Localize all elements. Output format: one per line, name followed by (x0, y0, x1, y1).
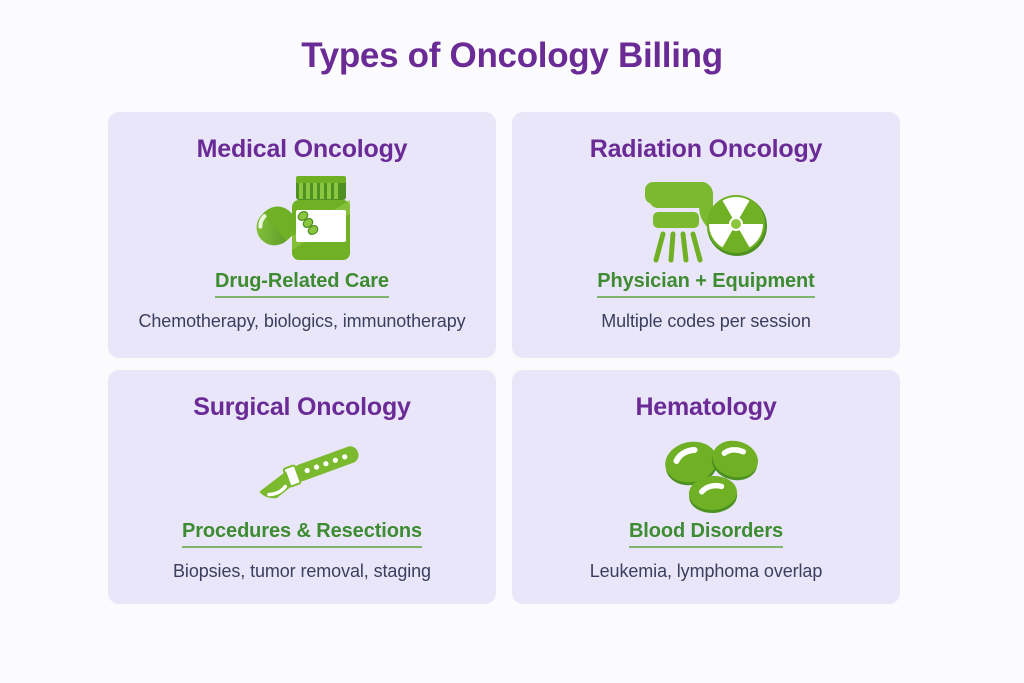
card-subtitle: Blood Disorders (629, 520, 783, 548)
card-title: Medical Oncology (197, 136, 408, 164)
radiation-machine-icon (643, 170, 769, 270)
card-medical-oncology[interactable]: Medical Oncology (108, 112, 496, 358)
card-surgical-oncology[interactable]: Surgical Oncology (108, 370, 496, 604)
page-title: Types of Oncology Billing (0, 36, 1024, 76)
card-subtitle: Drug-Related Care (215, 270, 389, 298)
card-hematology[interactable]: Hematology (512, 370, 900, 604)
pill-bottle-capsule-icon (246, 170, 358, 270)
card-description: Biopsies, tumor removal, staging (173, 561, 431, 582)
card-subtitle: Procedures & Resections (182, 520, 422, 548)
card-description: Multiple codes per session (601, 311, 811, 332)
blood-cells-icon (653, 428, 759, 520)
card-grid: Medical Oncology (108, 112, 903, 604)
card-radiation-oncology[interactable]: Radiation Oncology (512, 112, 900, 358)
card-title: Hematology (635, 394, 776, 422)
card-subtitle: Physician + Equipment (597, 270, 814, 298)
card-description: Leukemia, lymphoma overlap (590, 561, 823, 582)
infographic-page: Types of Oncology Billing Medical Oncolo… (0, 0, 1024, 683)
card-title: Radiation Oncology (590, 136, 823, 164)
card-description: Chemotherapy, biologics, immunotherapy (138, 311, 465, 332)
card-title: Surgical Oncology (193, 394, 410, 422)
scalpel-icon (236, 428, 368, 520)
